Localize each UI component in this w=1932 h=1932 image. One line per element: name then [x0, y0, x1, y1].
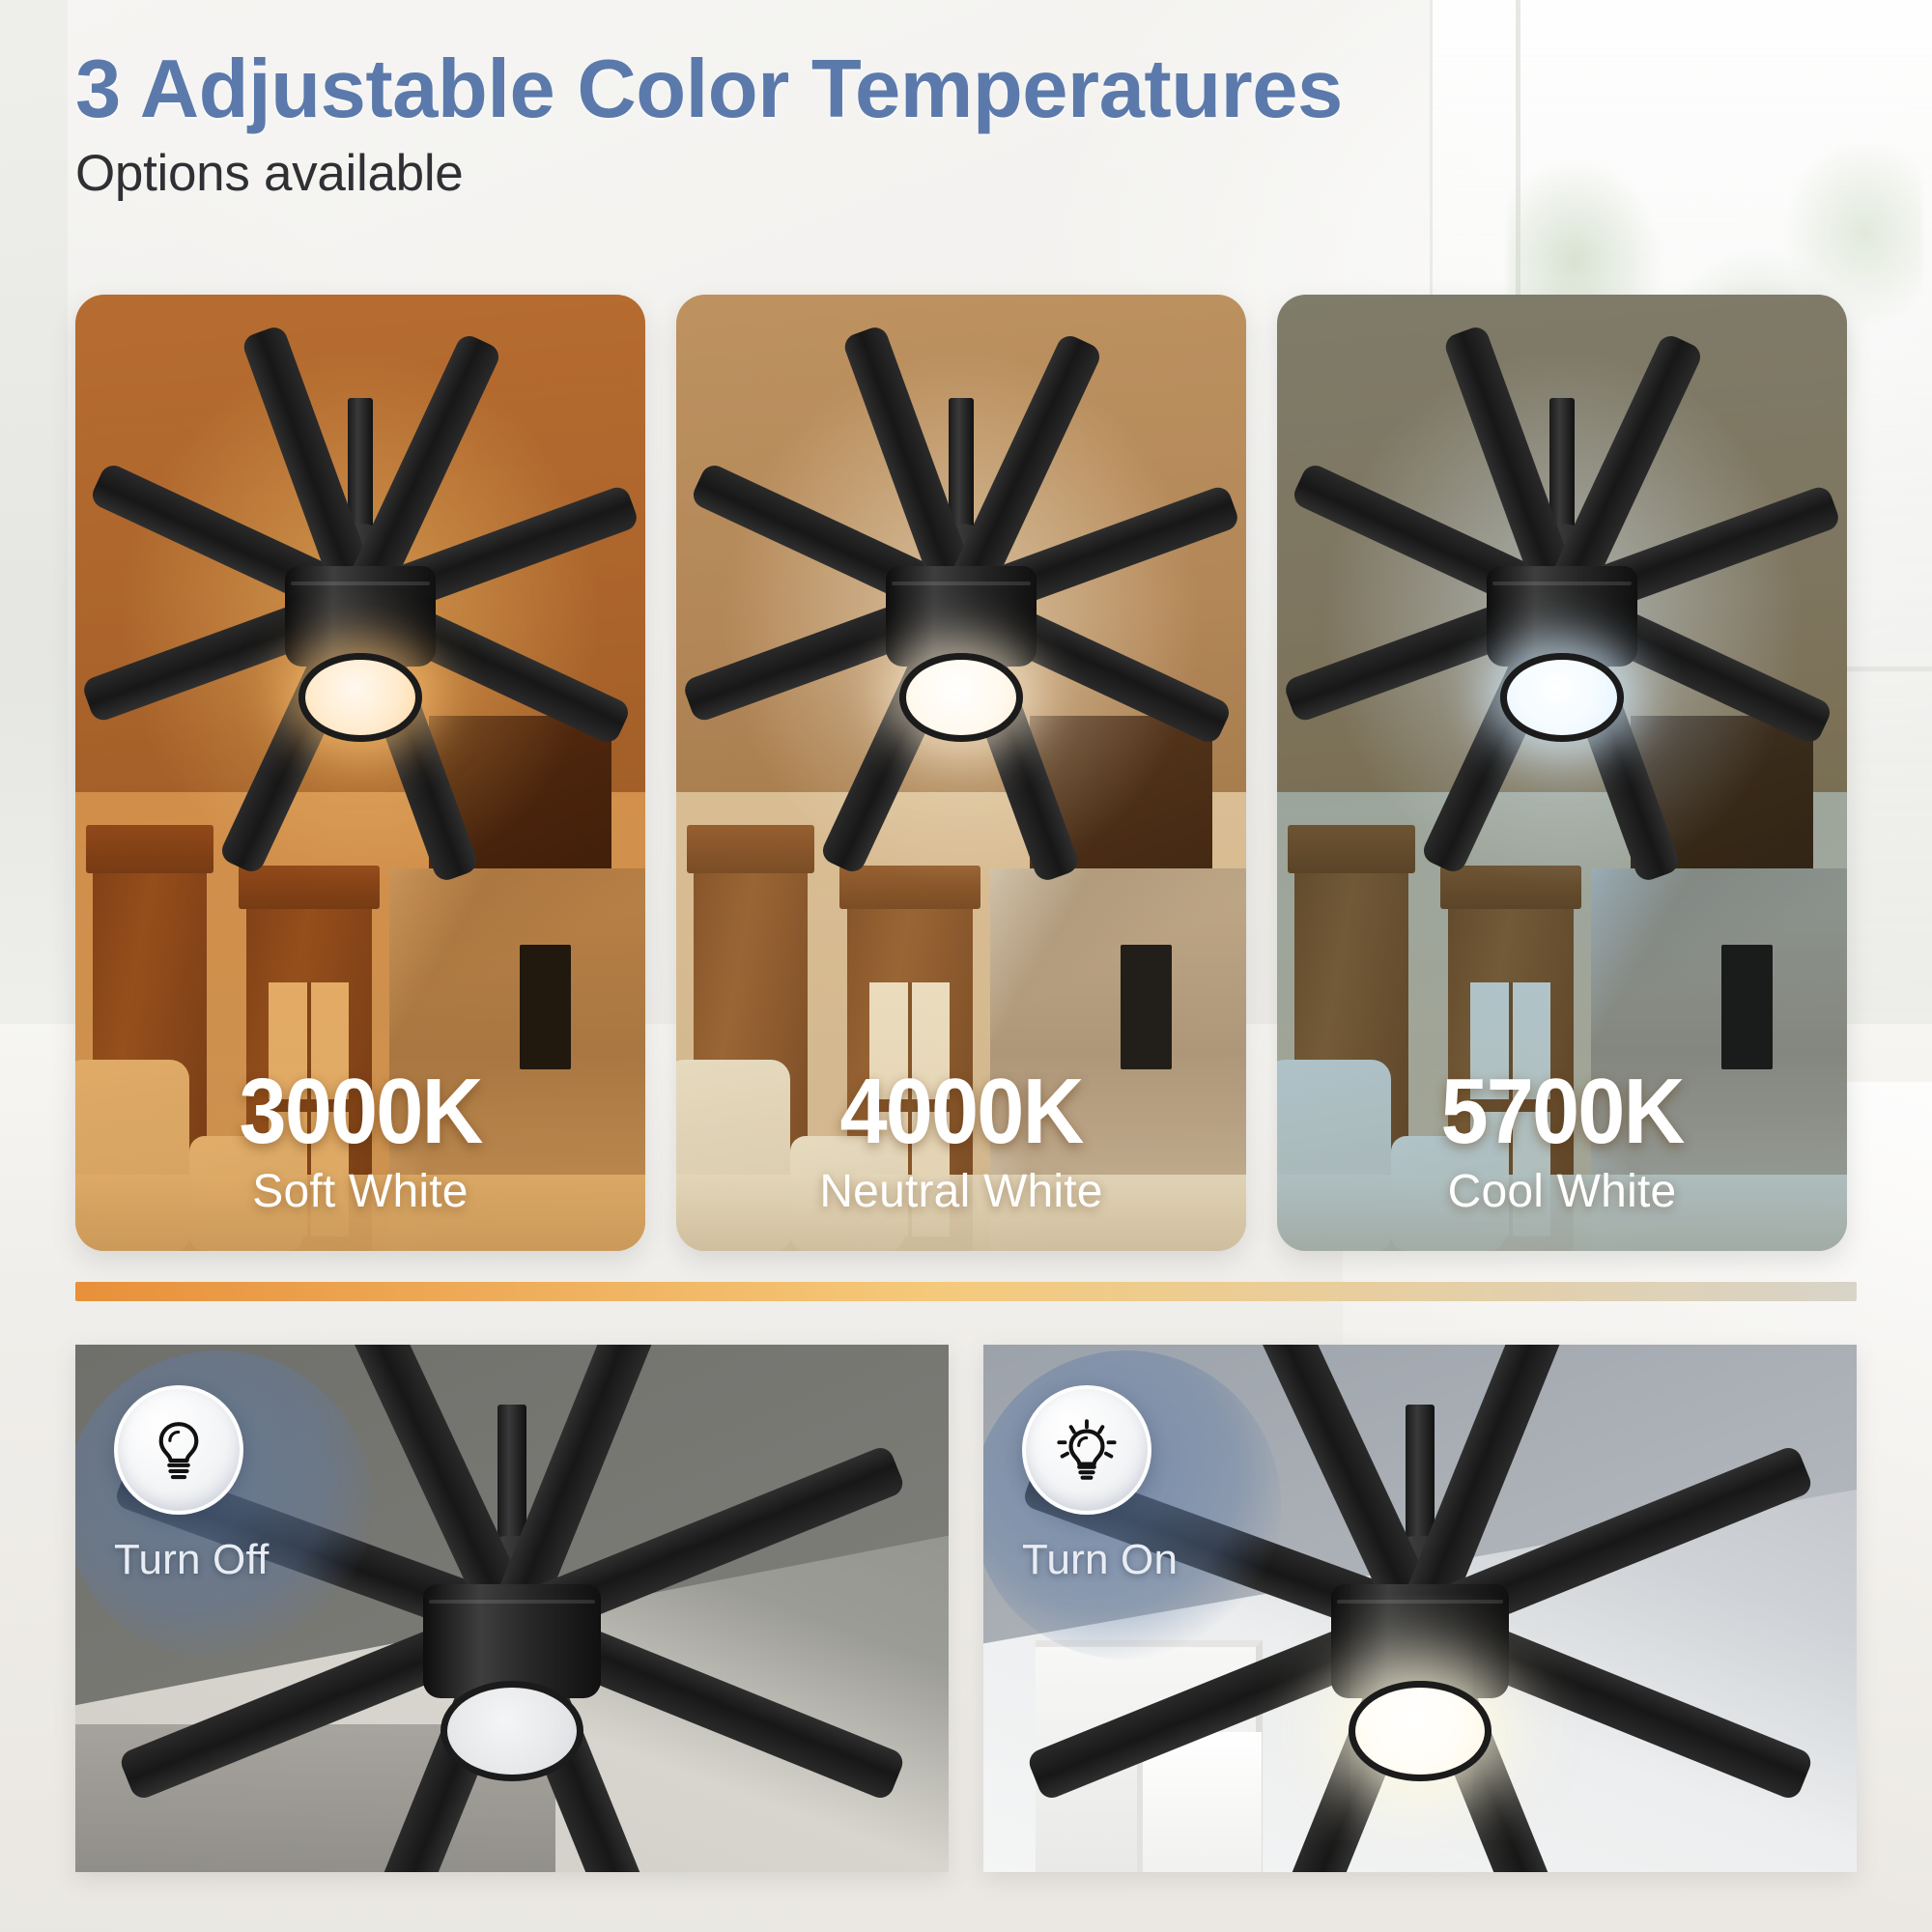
temperature-label: Neutral White — [676, 1165, 1246, 1218]
turn-on-badge[interactable]: Turn On — [1022, 1385, 1244, 1584]
temperature-card-4000k[interactable]: 4000K Neutral White — [676, 295, 1246, 1251]
page-subtitle: Options available — [75, 146, 1621, 202]
card-caption: 3000K Soft White — [75, 1066, 645, 1218]
turn-off-badge[interactable]: Turn Off — [114, 1385, 336, 1584]
header: 3 Adjustable Color Temperatures Options … — [75, 46, 1621, 203]
fan-motor-housing — [886, 566, 1037, 667]
fan-downrod — [1549, 398, 1575, 533]
light-mode-panels: Turn Off — [75, 1345, 1857, 1872]
temperature-card-5700k[interactable]: 5700K Cool White — [1277, 295, 1847, 1251]
fan-light-lens — [1349, 1681, 1492, 1781]
temperature-value: 3000K — [99, 1066, 623, 1157]
mode-panel-turn-on[interactable]: Turn On — [983, 1345, 1857, 1872]
fan-motor-ring — [1492, 582, 1632, 585]
turn-on-label: Turn On — [1022, 1536, 1244, 1584]
temperature-label: Soft White — [75, 1165, 645, 1218]
turn-off-label: Turn Off — [114, 1536, 336, 1584]
card-caption: 4000K Neutral White — [676, 1066, 1246, 1218]
card-caption: 5700K Cool White — [1277, 1066, 1847, 1218]
fan-downrod — [949, 398, 974, 533]
fan-light-lens — [440, 1681, 583, 1781]
color-temperature-cards: 3000K Soft White — [75, 295, 1857, 1251]
background-left-wall — [0, 0, 68, 1082]
fan-motor-ring — [892, 582, 1031, 585]
fan-downrod — [348, 398, 373, 533]
badge-glow — [75, 1350, 373, 1660]
fan-light-lens — [298, 653, 422, 742]
badge-glow — [983, 1350, 1281, 1660]
page-title: 3 Adjustable Color Temperatures — [75, 46, 1621, 132]
lightbulb-on-icon[interactable] — [1022, 1385, 1151, 1515]
fan-motor-ring — [291, 582, 430, 585]
temperature-card-3000k[interactable]: 3000K Soft White — [75, 295, 645, 1251]
fan-light-lens — [1500, 653, 1624, 742]
fan-motor-ring — [429, 1600, 595, 1604]
temperature-value: 5700K — [1300, 1066, 1825, 1157]
fan-light-lens — [899, 653, 1023, 742]
fan-motor-housing — [285, 566, 436, 667]
fan-motor-housing — [1487, 566, 1637, 667]
lightbulb-off-icon[interactable] — [114, 1385, 243, 1515]
mode-panel-turn-off[interactable]: Turn Off — [75, 1345, 949, 1872]
temperature-value: 4000K — [699, 1066, 1224, 1157]
gradient-divider — [75, 1282, 1857, 1301]
fan-motor-ring — [1337, 1600, 1503, 1604]
temperature-label: Cool White — [1277, 1165, 1847, 1218]
